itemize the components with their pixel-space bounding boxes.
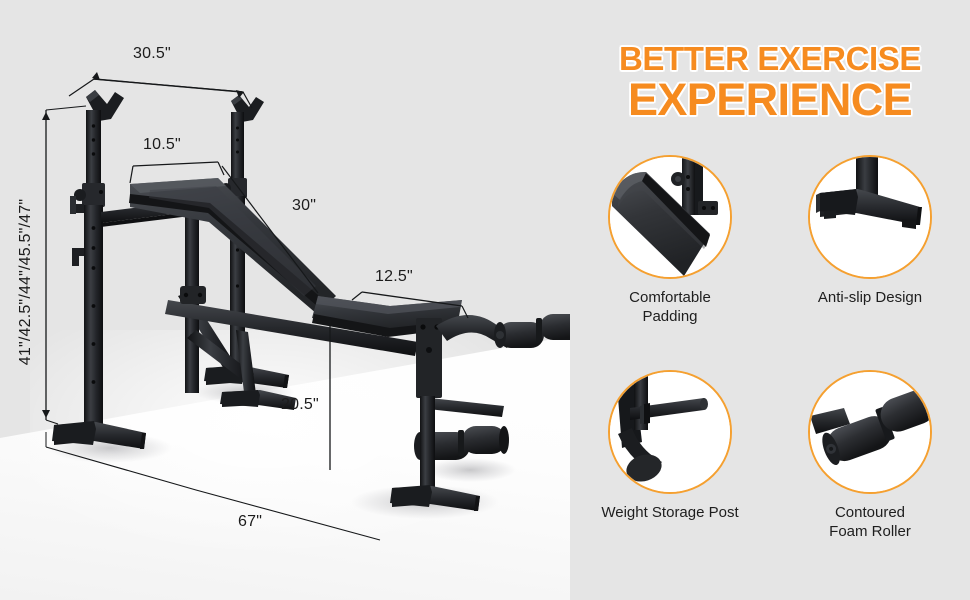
feature-caption: Weight Storage Post [601, 504, 738, 523]
dimension-rack-height-options: 41"/42.5"/44"/45.5"/47" [17, 199, 35, 365]
feature-caption: Anti-slip Design [818, 289, 922, 308]
feature-image-contoured-foam-roller [808, 370, 932, 494]
rack-upright-front [52, 90, 146, 449]
dimension-overall-length: 67" [238, 513, 262, 531]
dimension-rack-width: 30.5" [133, 45, 171, 63]
bench-pad-closeup-icon [610, 157, 730, 277]
dimension-seat-length: 12.5" [375, 268, 413, 286]
feature-caption: Contoured Foam Roller [829, 504, 911, 542]
feature-grid: Comfortable Padding [570, 155, 970, 585]
feature-image-weight-storage-post [608, 370, 732, 494]
dimension-backrest-width: 10.5" [143, 136, 181, 154]
t-foot-base-icon [810, 157, 930, 277]
dimension-backrest-length: 30" [292, 197, 316, 215]
feature-image-comfortable-padding [608, 155, 732, 279]
dimension-seat-height: 20.5" [281, 396, 319, 414]
feature-caption: Comfortable Padding [629, 289, 711, 327]
feature-weight-storage-post: Weight Storage Post [570, 370, 770, 585]
foam-roller-icon [810, 372, 930, 492]
feature-anti-slip-design: Anti-slip Design [770, 155, 970, 370]
feature-image-anti-slip-design [808, 155, 932, 279]
product-diagram-panel: 30.5" 10.5" 30" 12.5" 20.5" 67" 41"/42.5… [0, 0, 570, 600]
weight-storage-post [352, 389, 404, 402]
weight-post-icon [610, 372, 730, 492]
page-title: BETTER EXERCISE EXPERIENCE [570, 42, 970, 122]
feature-comfortable-padding: Comfortable Padding [570, 155, 770, 370]
infographic-page: 30.5" 10.5" 30" 12.5" 20.5" 67" 41"/42.5… [0, 0, 970, 600]
feature-contoured-foam-roller: Contoured Foam Roller [770, 370, 970, 585]
marketing-panel: BETTER EXERCISE EXPERIENCE [570, 0, 970, 600]
headline-line-1: BETTER EXERCISE [570, 42, 970, 75]
product-illustration [0, 0, 570, 600]
headline-line-2: EXPERIENCE [570, 77, 970, 122]
